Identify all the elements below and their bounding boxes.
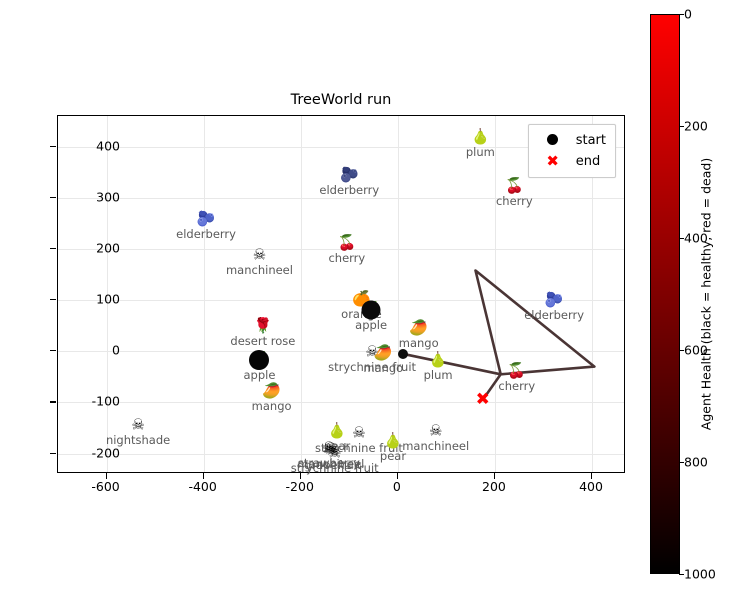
tree-marker-pear: 🍐 [384,433,403,448]
tree-marker-berry-dead: 🫐 [340,168,359,183]
tree-marker-cherry: 🍒 [505,178,524,193]
y-axis-tick-mark [50,350,56,351]
colorbar-tick-label: 200 [684,119,708,134]
colorbar-tick-mark [679,238,684,239]
agent-health-dot [249,350,269,370]
colorbar-tick-mark [679,350,684,351]
tree-marker-pear: 🍐 [328,423,347,438]
agent-health-dot [362,301,381,320]
legend-label-start: start [570,133,606,148]
x-axis-tick-label: 200 [482,479,506,494]
tree-label: manchineel [226,263,293,277]
colorbar-tick-mark [679,14,684,15]
colorbar-label: Agent Health (black = healthy, red = dea… [699,158,714,430]
tree-marker-skull: ☠ [429,423,442,438]
page-title: TreeWorld run [57,92,625,108]
x-axis-tick-mark [591,473,592,479]
tree-label: elderberry [319,183,379,197]
x-axis-tick-label: -200 [286,479,314,494]
tree-label: elderberry [524,308,584,322]
tree-marker-skull-dead: ☠ [328,445,341,460]
x-axis-tick-label: -600 [91,479,119,494]
tree-label: mango [399,336,439,350]
tree-marker-cherry: 🍒 [507,363,526,378]
tree-marker-berry: 🫐 [545,293,564,308]
tree-label: cherry [498,379,535,393]
tree-label: apple [355,318,387,332]
x-axis-tick-label: -400 [188,479,216,494]
y-axis-tick-mark [50,401,56,402]
x-axis-tick-mark [397,473,398,479]
colorbar-tick-label: 0 [684,7,692,22]
tree-label: manchineel [402,439,469,453]
x-axis-tick-mark [300,473,301,479]
tree-marker-plum-dark: 🍐 [471,130,490,145]
y-axis-tick-mark [50,197,56,198]
tree-marker-skull: ☠ [253,248,266,263]
tree-marker-skull: ☠ [352,426,365,441]
figure-canvas: TreeWorld run 🫐elderberry☠manchineel🫐eld… [0,0,752,604]
tree-marker-mango: 🥭 [409,321,428,336]
start-marker-icon [536,134,570,148]
tree-label: apple [244,368,276,382]
tree-marker-skull: ☠ [131,418,144,433]
colorbar-tick-label: 800 [684,455,708,470]
tree-marker-plum: 🍐 [429,353,448,368]
y-axis-tick-label: -100 [92,394,120,409]
tree-marker-cherry: 🍒 [338,235,357,250]
end-point-marker: ✖ [476,391,490,408]
tree-label: plum [466,145,495,159]
tree-label: plum [424,368,453,382]
tree-marker-berry: 🫐 [197,212,216,227]
y-axis-tick-label: 200 [96,240,120,255]
y-axis-tick-mark [50,299,56,300]
tree-label: mango [363,361,403,375]
x-axis-tick-mark [203,473,204,479]
tree-label: cherry [496,194,533,208]
y-axis-tick-mark [50,453,56,454]
colorbar-tick-mark [679,574,684,575]
legend-label-end: end [570,154,601,169]
y-axis-tick-label: 400 [96,138,120,153]
tree-label: desert rose [230,334,295,348]
end-marker-icon: ✖ [536,154,570,169]
legend-item-start[interactable]: start [536,130,606,151]
tree-label: mango [252,399,292,413]
tree-marker-mango-dark: 🥭 [374,345,393,360]
colorbar-gradient [650,14,680,574]
agent-health-dot [398,349,408,359]
tree-label: elderberry [176,227,236,241]
y-axis-tick-label: 100 [96,292,120,307]
legend[interactable]: start ✖ end [528,124,616,178]
x-axis-tick-label: 400 [579,479,603,494]
y-axis-tick-label: 300 [96,189,120,204]
tree-label: strychnine fruit [291,461,379,475]
x-axis-tick-mark [494,473,495,479]
x-axis-tick-label: 0 [393,479,401,494]
colorbar-tick-mark [679,462,684,463]
colorbar-tick-label: 1000 [684,567,716,582]
y-axis-tick-mark [50,146,56,147]
tree-marker-rose: 🌹 [254,318,273,333]
legend-item-end[interactable]: ✖ end [536,151,606,172]
x-axis-tick-mark [106,473,107,479]
colorbar-tick-mark [679,126,684,127]
y-axis-tick-mark [50,248,56,249]
tree-marker-mango-dark: 🥭 [262,384,281,399]
y-axis-tick-label: 0 [112,343,120,358]
tree-label: cherry [328,251,365,265]
y-axis-tick-label: -200 [92,445,120,460]
plot-axes[interactable]: 🫐elderberry☠manchineel🫐elderberry🍒cherry… [57,115,625,473]
